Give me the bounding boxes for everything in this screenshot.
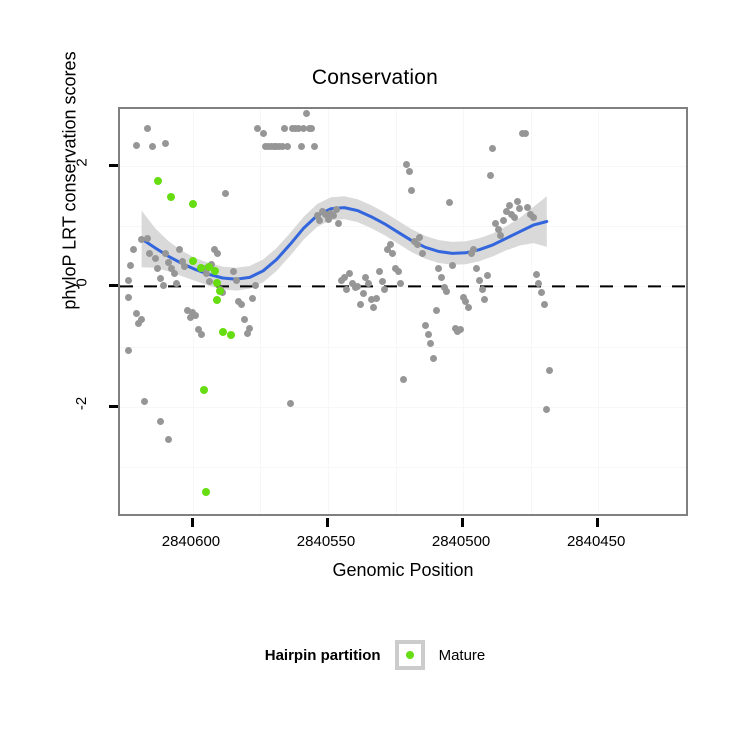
data-point-other [530, 214, 537, 221]
data-point-other [298, 143, 305, 150]
data-point-mature [219, 328, 227, 336]
data-point-other [260, 130, 267, 137]
data-point-other [365, 280, 372, 287]
data-point-other [406, 168, 413, 175]
data-point-other [222, 190, 229, 197]
data-point-other [281, 125, 288, 132]
gridline-horizontal [120, 347, 686, 348]
plot-panel [118, 107, 688, 516]
data-point-other [130, 246, 137, 253]
data-point-mature [167, 193, 175, 201]
data-point-other [430, 355, 437, 362]
data-point-other [360, 290, 367, 297]
data-point-other [408, 187, 415, 194]
data-point-other [249, 295, 256, 302]
data-point-other [308, 125, 315, 132]
data-point-other [376, 268, 383, 275]
x-tick-label: 2840550 [281, 533, 371, 550]
data-point-mature [202, 488, 210, 496]
x-tick-mark [596, 518, 599, 527]
gridline-vertical [328, 109, 329, 514]
data-point-other [214, 250, 221, 257]
data-point-other [438, 274, 445, 281]
data-point-other [357, 301, 364, 308]
data-point-other [524, 204, 531, 211]
x-tick-label: 2840450 [551, 533, 641, 550]
y-tick-mark [109, 284, 118, 287]
data-point-other [387, 241, 394, 248]
data-point-other [149, 143, 156, 150]
gridline-horizontal [120, 286, 686, 287]
x-tick-mark [191, 518, 194, 527]
x-axis-title: Genomic Position [118, 560, 688, 581]
data-point-other [287, 400, 294, 407]
data-point-other [138, 316, 145, 323]
data-point-other [419, 250, 426, 257]
data-point-other [154, 265, 161, 272]
smoother-overlay [120, 109, 688, 516]
data-point-other [379, 278, 386, 285]
data-point-other [425, 331, 432, 338]
data-point-other [414, 241, 421, 248]
data-point-other [125, 347, 132, 354]
data-point-other [533, 271, 540, 278]
data-point-other [541, 301, 548, 308]
legend-label-mature: Mature [439, 647, 486, 664]
data-point-other [373, 295, 380, 302]
data-point-other [162, 250, 169, 257]
chart-title: Conservation [0, 66, 750, 90]
gridline-horizontal [120, 226, 686, 227]
data-point-other [144, 235, 151, 242]
data-point-other [370, 304, 377, 311]
data-point-mature [211, 267, 219, 275]
data-point-other [181, 263, 188, 270]
legend-key-mature[interactable] [395, 640, 425, 670]
data-point-other [160, 282, 167, 289]
data-point-mature [213, 296, 221, 304]
x-tick-label: 2840500 [416, 533, 506, 550]
data-point-other [433, 307, 440, 314]
data-point-other [481, 296, 488, 303]
data-point-other [303, 110, 310, 117]
data-point-other [198, 331, 205, 338]
data-point-other [443, 288, 450, 295]
data-point-other [354, 283, 361, 290]
y-tick-label-text: 0 [74, 279, 91, 287]
data-point-other [546, 367, 553, 374]
data-point-other [538, 289, 545, 296]
y-tick-label: -2 [60, 395, 104, 412]
data-point-other [125, 294, 132, 301]
data-point-other [506, 202, 513, 209]
data-point-other [514, 198, 521, 205]
data-point-other [284, 143, 291, 150]
conservation-chart: Conservation phyloP LRT conservation sco… [0, 0, 750, 750]
data-point-mature [200, 386, 208, 394]
data-point-other [233, 277, 240, 284]
y-tick-label: 2 [60, 154, 104, 171]
data-point-other [165, 436, 172, 443]
data-point-other [141, 398, 148, 405]
data-point-other [162, 140, 169, 147]
data-point-other [311, 143, 318, 150]
data-point-mature [189, 200, 197, 208]
data-point-other [346, 270, 353, 277]
data-point-other [416, 234, 423, 241]
x-tick-label: 2840600 [146, 533, 236, 550]
data-point-mature [189, 257, 197, 265]
data-point-other [206, 278, 213, 285]
data-point-other [470, 246, 477, 253]
data-point-other [395, 268, 402, 275]
data-point-other [449, 262, 456, 269]
data-point-other [330, 212, 337, 219]
data-point-other [230, 268, 237, 275]
gridline-horizontal [120, 407, 686, 408]
x-tick-mark [461, 518, 464, 527]
data-point-other [446, 199, 453, 206]
gridline-vertical [463, 109, 464, 514]
data-point-other [238, 301, 245, 308]
data-point-other [511, 214, 518, 221]
data-point-other [192, 312, 199, 319]
gridline-vertical [598, 109, 599, 514]
data-point-other [543, 406, 550, 413]
data-point-other [487, 172, 494, 179]
data-point-other [316, 217, 323, 224]
data-point-other [241, 316, 248, 323]
y-tick-label: 0 [60, 274, 104, 291]
y-tick-mark [109, 164, 118, 167]
gridline-vertical [531, 109, 532, 514]
data-point-other [157, 418, 164, 425]
data-point-other [500, 217, 507, 224]
data-point-other [125, 277, 132, 284]
y-tick-mark [109, 405, 118, 408]
legend: Hairpin partition Mature [0, 640, 750, 670]
data-point-other [152, 255, 159, 262]
data-point-other [465, 304, 472, 311]
data-point-other [489, 145, 496, 152]
y-tick-label-text: -2 [74, 397, 91, 410]
data-point-other [400, 376, 407, 383]
data-point-other [144, 125, 151, 132]
data-point-other [333, 206, 340, 213]
data-point-other [422, 322, 429, 329]
gridline-horizontal [120, 467, 686, 468]
data-point-other [435, 265, 442, 272]
gridline-vertical [396, 109, 397, 514]
data-point-mature [154, 177, 162, 185]
y-axis-title: phyloP LRT conservation scores [60, 0, 81, 391]
data-point-other [252, 282, 259, 289]
data-point-other [497, 232, 504, 239]
y-tick-label-text: 2 [74, 158, 91, 166]
data-point-other [479, 286, 486, 293]
data-point-other [476, 277, 483, 284]
data-point-other [473, 265, 480, 272]
data-point-other [246, 325, 253, 332]
data-point-other [176, 246, 183, 253]
x-tick-mark [326, 518, 329, 527]
legend-title: Hairpin partition [265, 647, 381, 664]
legend-dot-icon [406, 651, 414, 659]
data-point-other [133, 142, 140, 149]
data-point-other [522, 130, 529, 137]
data-point-other [381, 286, 388, 293]
gridline-vertical [260, 109, 261, 514]
data-point-other [127, 262, 134, 269]
data-point-other [343, 286, 350, 293]
data-point-mature [227, 331, 235, 339]
data-point-other [171, 270, 178, 277]
data-point-other [516, 205, 523, 212]
data-point-other [484, 272, 491, 279]
